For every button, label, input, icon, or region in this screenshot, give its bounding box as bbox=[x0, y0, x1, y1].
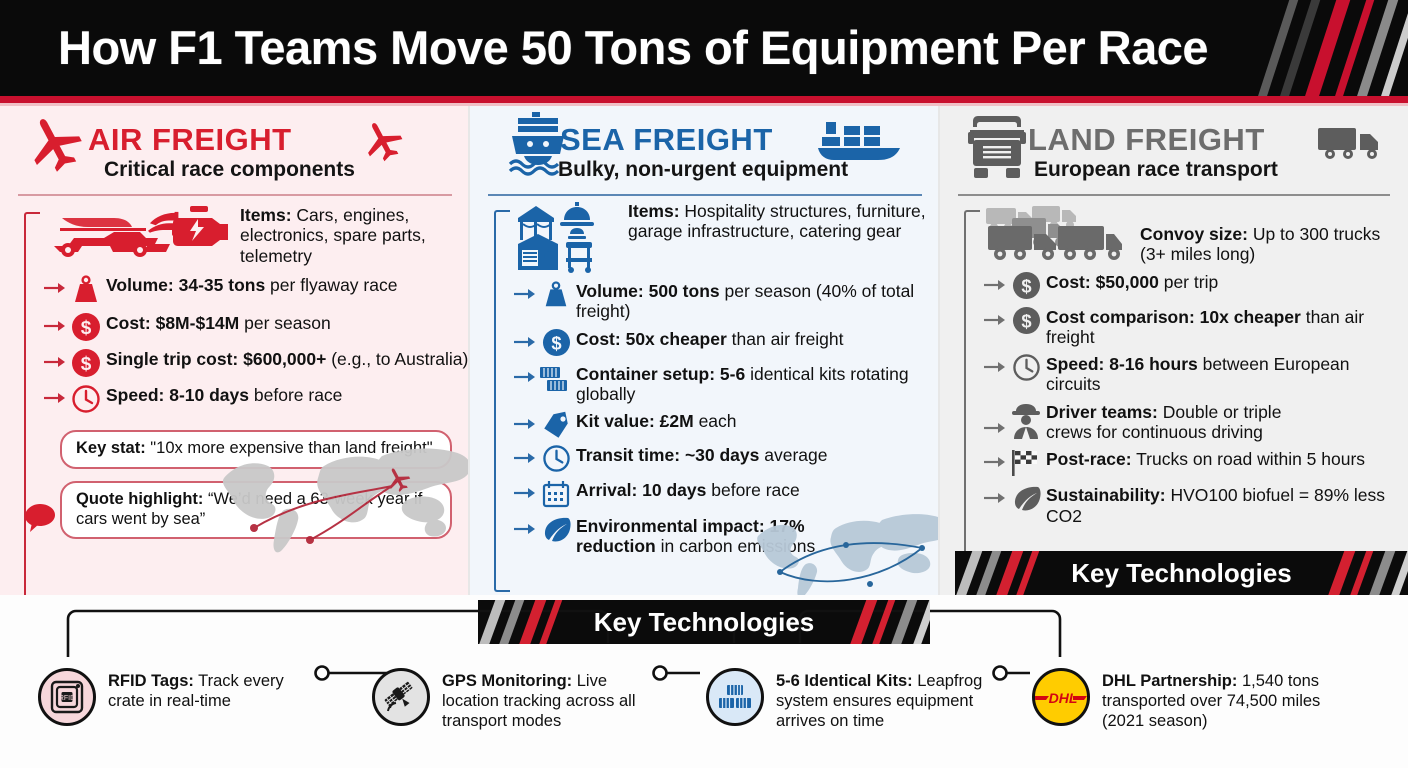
air-column-title: AIR FREIGHT bbox=[88, 122, 292, 158]
list-item-text: Sustainability: HVO100 biofuel = 89% les… bbox=[1046, 482, 1408, 526]
list-item-bold-value: 10x cheaper bbox=[1200, 307, 1301, 327]
list-item-text: Container setup: 5-6 identical kits rota… bbox=[576, 361, 940, 405]
list-item-text: Kit value: £2M each bbox=[576, 408, 737, 431]
list-item-value: Trucks on road within 5 hours bbox=[1136, 449, 1365, 469]
arrow-icon bbox=[514, 451, 536, 465]
list-item-text: Cost: 50x cheaper than air freight bbox=[576, 326, 844, 349]
svg-text:RFID: RFID bbox=[59, 695, 75, 702]
list-item-bold-value: ~30 days bbox=[685, 445, 759, 465]
tech-item-dhl[interactable]: DHL DHL Partnership: 1,540 tons transpor… bbox=[1032, 668, 1332, 731]
column-air-freight: AIR FREIGHT Critical race components bbox=[0, 106, 470, 595]
sea-column-title: SEA FREIGHT bbox=[560, 122, 773, 158]
list-item-bold-value: 10 days bbox=[642, 480, 706, 500]
list-item-bold-value: 8-16 hours bbox=[1109, 354, 1198, 374]
tech-items-row: RFID RFID Tags: Track every crate in rea… bbox=[0, 650, 1408, 768]
svg-text:$: $ bbox=[81, 354, 92, 375]
truck-convoy-icon bbox=[984, 198, 1134, 264]
list-item-label: Cost: bbox=[576, 329, 621, 349]
tech-item-rfid[interactable]: RFID RFID Tags: Track every crate in rea… bbox=[38, 668, 308, 726]
dollar-icon: $ bbox=[536, 326, 576, 357]
list-item-text: Cost: $8M-$14M per season bbox=[106, 310, 331, 333]
list-item-value: than air freight bbox=[727, 329, 844, 349]
list-item: Items: Cars, engines, electronics, spare… bbox=[44, 202, 470, 266]
price-tag-icon bbox=[536, 408, 576, 438]
svg-text:$: $ bbox=[81, 318, 92, 339]
dollar-icon: $ bbox=[66, 346, 106, 378]
list-item: Sustainability: HVO100 biofuel = 89% les… bbox=[984, 482, 1408, 526]
svg-text:$: $ bbox=[1021, 310, 1031, 331]
list-item-value: (e.g., to Australia) bbox=[326, 349, 468, 369]
arrow-icon bbox=[44, 355, 66, 369]
freight-columns: AIR FREIGHT Critical race components bbox=[0, 106, 1408, 595]
list-item-value: before race bbox=[706, 480, 799, 500]
key-technologies-title: Key Technologies bbox=[1071, 558, 1292, 589]
list-item: Volume: 500 tons per season (40% of tota… bbox=[514, 278, 940, 322]
tech-item-label: 5-6 Identical Kits: bbox=[776, 672, 913, 690]
list-item-label: Cost comparison: bbox=[1046, 307, 1195, 327]
list-item-label: Items: bbox=[628, 201, 680, 221]
list-item: Convoy size: Up to 300 trucks (3+ miles … bbox=[984, 198, 1408, 265]
list-item-label: Items: bbox=[240, 205, 292, 225]
containers-icon bbox=[536, 361, 576, 393]
arrow-icon bbox=[984, 421, 1006, 435]
list-item-text: Driver teams: Double or triple crews for… bbox=[1046, 399, 1306, 443]
list-item: Items: Hospitality structures, furniture… bbox=[514, 198, 940, 274]
dhl-logo-icon: DHL bbox=[1032, 668, 1090, 726]
arrow-icon bbox=[44, 391, 66, 405]
list-item-bold-value: 5-6 bbox=[720, 364, 745, 384]
page-title: How F1 Teams Move 50 Tons of Equipment P… bbox=[58, 20, 1358, 75]
list-item-value: per trip bbox=[1159, 272, 1218, 292]
sea-bracket-connector bbox=[494, 210, 510, 592]
truck-front-icon bbox=[968, 112, 1026, 185]
list-item: $ Cost: 50x cheaper than air freight bbox=[514, 326, 940, 357]
list-item: Arrival: 10 days before race bbox=[514, 477, 940, 509]
list-item-text: Transit time: ~30 days average bbox=[576, 442, 827, 465]
speech-bubble-icon bbox=[24, 503, 56, 538]
arrow-icon bbox=[44, 281, 66, 295]
list-item: Post-race: Trucks on road within 5 hours bbox=[984, 446, 1408, 478]
list-item-label: Speed: bbox=[1046, 354, 1104, 374]
clock-icon bbox=[1006, 351, 1046, 382]
list-item: Speed: 8-10 days before race bbox=[44, 382, 470, 414]
airplane-icon bbox=[24, 112, 86, 175]
list-item: Transit time: ~30 days average bbox=[514, 442, 940, 473]
list-item-label: Environmental impact: bbox=[576, 516, 765, 536]
arrow-icon bbox=[514, 417, 536, 431]
list-item-text: Items: Cars, engines, electronics, spare… bbox=[240, 202, 470, 266]
list-item-label: Single trip cost: bbox=[106, 349, 238, 369]
dollar-icon: $ bbox=[1006, 269, 1046, 300]
list-item-label: Volume: bbox=[106, 275, 174, 295]
list-item-value: before race bbox=[249, 385, 342, 405]
list-item-text: Speed: 8-10 days before race bbox=[106, 382, 342, 405]
tech-item-label: DHL Partnership: bbox=[1102, 672, 1237, 690]
list-item-label: Kit value: bbox=[576, 411, 655, 431]
list-item-value: each bbox=[694, 411, 737, 431]
weight-icon bbox=[66, 272, 106, 306]
checkered-flag-icon bbox=[1006, 446, 1046, 478]
sea-column-header: SEA FREIGHT Bulky, non-urgent equipment bbox=[470, 106, 940, 190]
container-ship-icon bbox=[818, 118, 904, 169]
arrow-icon bbox=[514, 287, 536, 301]
key-technologies-section: Key Technologies bbox=[0, 595, 1408, 768]
arrow-icon bbox=[514, 335, 536, 349]
list-item-bold-value: $600,000+ bbox=[243, 349, 326, 369]
dollar-icon: $ bbox=[1006, 304, 1046, 335]
list-item-bold-value: £2M bbox=[660, 411, 694, 431]
svg-text:$: $ bbox=[551, 332, 561, 353]
arrow-icon bbox=[984, 455, 1006, 469]
tech-item-label: GPS Monitoring: bbox=[442, 672, 572, 690]
list-item: Container setup: 5-6 identical kits rota… bbox=[514, 361, 940, 405]
list-item: $ Cost: $8M-$14M per season bbox=[44, 310, 470, 342]
list-item-label: Post-race: bbox=[1046, 449, 1132, 469]
column-sea-freight: SEA FREIGHT Bulky, non-urgent equipment bbox=[470, 106, 940, 595]
svg-text:$: $ bbox=[1021, 275, 1031, 296]
world-map-air-routes bbox=[214, 436, 470, 556]
list-item: Speed: 8-16 hours between European circu… bbox=[984, 351, 1408, 395]
list-item: Driver teams: Double or triple crews for… bbox=[984, 399, 1408, 443]
arrow-icon bbox=[514, 522, 536, 536]
hospitality-icon bbox=[514, 198, 624, 274]
clock-icon bbox=[66, 382, 106, 414]
callout-label: Quote highlight: bbox=[76, 490, 203, 508]
list-item-value: average bbox=[759, 445, 827, 465]
callout-label: Key stat: bbox=[76, 439, 146, 457]
list-item: $ Cost: $50,000 per trip bbox=[984, 269, 1408, 300]
list-item-value: per season bbox=[239, 313, 330, 333]
list-item: Volume: 34-35 tons per flyaway race bbox=[44, 272, 470, 306]
list-item-bold-value: $50,000 bbox=[1096, 272, 1159, 292]
land-bracket-connector bbox=[964, 210, 980, 570]
list-item-label: Convoy size: bbox=[1140, 224, 1248, 244]
arrow-icon bbox=[514, 370, 536, 384]
tech-item-text: RFID Tags: Track every crate in real-tim… bbox=[108, 668, 308, 711]
list-item-text: Convoy size: Up to 300 trucks (3+ miles … bbox=[1140, 198, 1400, 265]
land-column-header: LAND FREIGHT European race transport bbox=[940, 106, 1408, 190]
list-item-bold-value: $8M-$14M bbox=[156, 313, 240, 333]
list-item-label: Driver teams: bbox=[1046, 402, 1158, 422]
list-item-label: Speed: bbox=[106, 385, 164, 405]
key-technologies-banner-top: Key Technologies bbox=[955, 551, 1408, 595]
truck-side-icon bbox=[1318, 124, 1384, 165]
list-item-label: Cost: bbox=[1046, 272, 1091, 292]
sea-column-subtitle: Bulky, non-urgent equipment bbox=[558, 158, 848, 182]
arrow-icon bbox=[984, 278, 1006, 292]
rfid-tag-icon: RFID bbox=[38, 668, 96, 726]
arrow-icon bbox=[984, 313, 1006, 327]
satellite-icon bbox=[372, 668, 430, 726]
engine-icon bbox=[172, 202, 234, 254]
air-header-divider bbox=[18, 194, 452, 196]
dollar-icon: $ bbox=[66, 310, 106, 342]
list-item-bold-value: 500 tons bbox=[649, 281, 720, 301]
list-item-label: Cost: bbox=[106, 313, 151, 333]
list-item-label: Sustainability: bbox=[1046, 485, 1166, 505]
world-map-sea-routes bbox=[750, 506, 940, 595]
land-column-title: LAND FREIGHT bbox=[1028, 122, 1265, 158]
tech-item-text: 5-6 Identical Kits: Leapfrog system ensu… bbox=[776, 668, 996, 731]
column-land-freight: LAND FREIGHT European race transport bbox=[940, 106, 1408, 595]
page-header: How F1 Teams Move 50 Tons of Equipment P… bbox=[0, 0, 1408, 96]
list-item-label: Container setup: bbox=[576, 364, 715, 384]
arrow-icon bbox=[984, 491, 1006, 505]
leaf-icon bbox=[536, 513, 576, 543]
list-item-text: Volume: 34-35 tons per flyaway race bbox=[106, 272, 397, 295]
calendar-icon bbox=[536, 477, 576, 509]
list-item-text: Cost: $50,000 per trip bbox=[1046, 269, 1218, 292]
list-item-bold-value: 50x cheaper bbox=[626, 329, 727, 349]
list-item-text: Cost comparison: 10x cheaper than air fr… bbox=[1046, 304, 1408, 348]
list-item-value: per flyaway race bbox=[265, 275, 397, 295]
arrow-icon bbox=[984, 360, 1006, 374]
list-item-text: Arrival: 10 days before race bbox=[576, 477, 800, 500]
list-item-text: Post-race: Trucks on road within 5 hours bbox=[1046, 446, 1365, 469]
land-column-subtitle: European race transport bbox=[1034, 158, 1278, 182]
leaf-icon bbox=[1006, 482, 1046, 512]
list-item-label: Volume: bbox=[576, 281, 644, 301]
land-header-divider bbox=[958, 194, 1390, 196]
list-item-text: Items: Hospitality structures, furniture… bbox=[628, 198, 928, 242]
list-item: $ Cost comparison: 10x cheaper than air … bbox=[984, 304, 1408, 348]
tech-item-gps[interactable]: GPS Monitoring: Live location tracking a… bbox=[372, 668, 652, 731]
land-bullet-list: Convoy size: Up to 300 trucks (3+ miles … bbox=[940, 198, 1408, 530]
tech-item-text: GPS Monitoring: Live location tracking a… bbox=[442, 668, 652, 731]
tech-item-text: DHL Partnership: 1,540 tons transported … bbox=[1102, 668, 1332, 731]
infographic-page: How F1 Teams Move 50 Tons of Equipment P… bbox=[0, 0, 1408, 768]
driver-icon bbox=[1006, 399, 1046, 441]
tech-item-identical-kits[interactable]: 5-6 Identical Kits: Leapfrog system ensu… bbox=[706, 668, 996, 731]
list-item-bold-value: 34-35 tons bbox=[179, 275, 266, 295]
tech-item-label: RFID Tags: bbox=[108, 672, 194, 690]
header-underline bbox=[0, 96, 1408, 103]
arrow-icon bbox=[44, 319, 66, 333]
weight-icon bbox=[536, 278, 576, 310]
list-item-bold-value: 8-10 days bbox=[169, 385, 249, 405]
list-item-label: Arrival: bbox=[576, 480, 637, 500]
key-technologies-title: Key Technologies bbox=[594, 607, 815, 638]
list-item: Kit value: £2M each bbox=[514, 408, 940, 438]
list-item-text: Volume: 500 tons per season (40% of tota… bbox=[576, 278, 940, 322]
sea-header-divider bbox=[488, 194, 922, 196]
air-column-header: AIR FREIGHT Critical race components bbox=[0, 106, 470, 190]
f1-car-icon bbox=[44, 202, 180, 266]
list-item-text: Speed: 8-16 hours between European circu… bbox=[1046, 351, 1408, 395]
list-item-text: Single trip cost: $600,000+ (e.g., to Au… bbox=[106, 346, 468, 369]
arrow-icon bbox=[514, 486, 536, 500]
containers-icon bbox=[706, 668, 764, 726]
list-item: $ Single trip cost: $600,000+ (e.g., to … bbox=[44, 346, 470, 378]
air-column-subtitle: Critical race components bbox=[104, 158, 355, 182]
list-item-label: Transit time: bbox=[576, 445, 680, 465]
clock-icon bbox=[536, 442, 576, 473]
airplane-icon bbox=[360, 118, 406, 165]
